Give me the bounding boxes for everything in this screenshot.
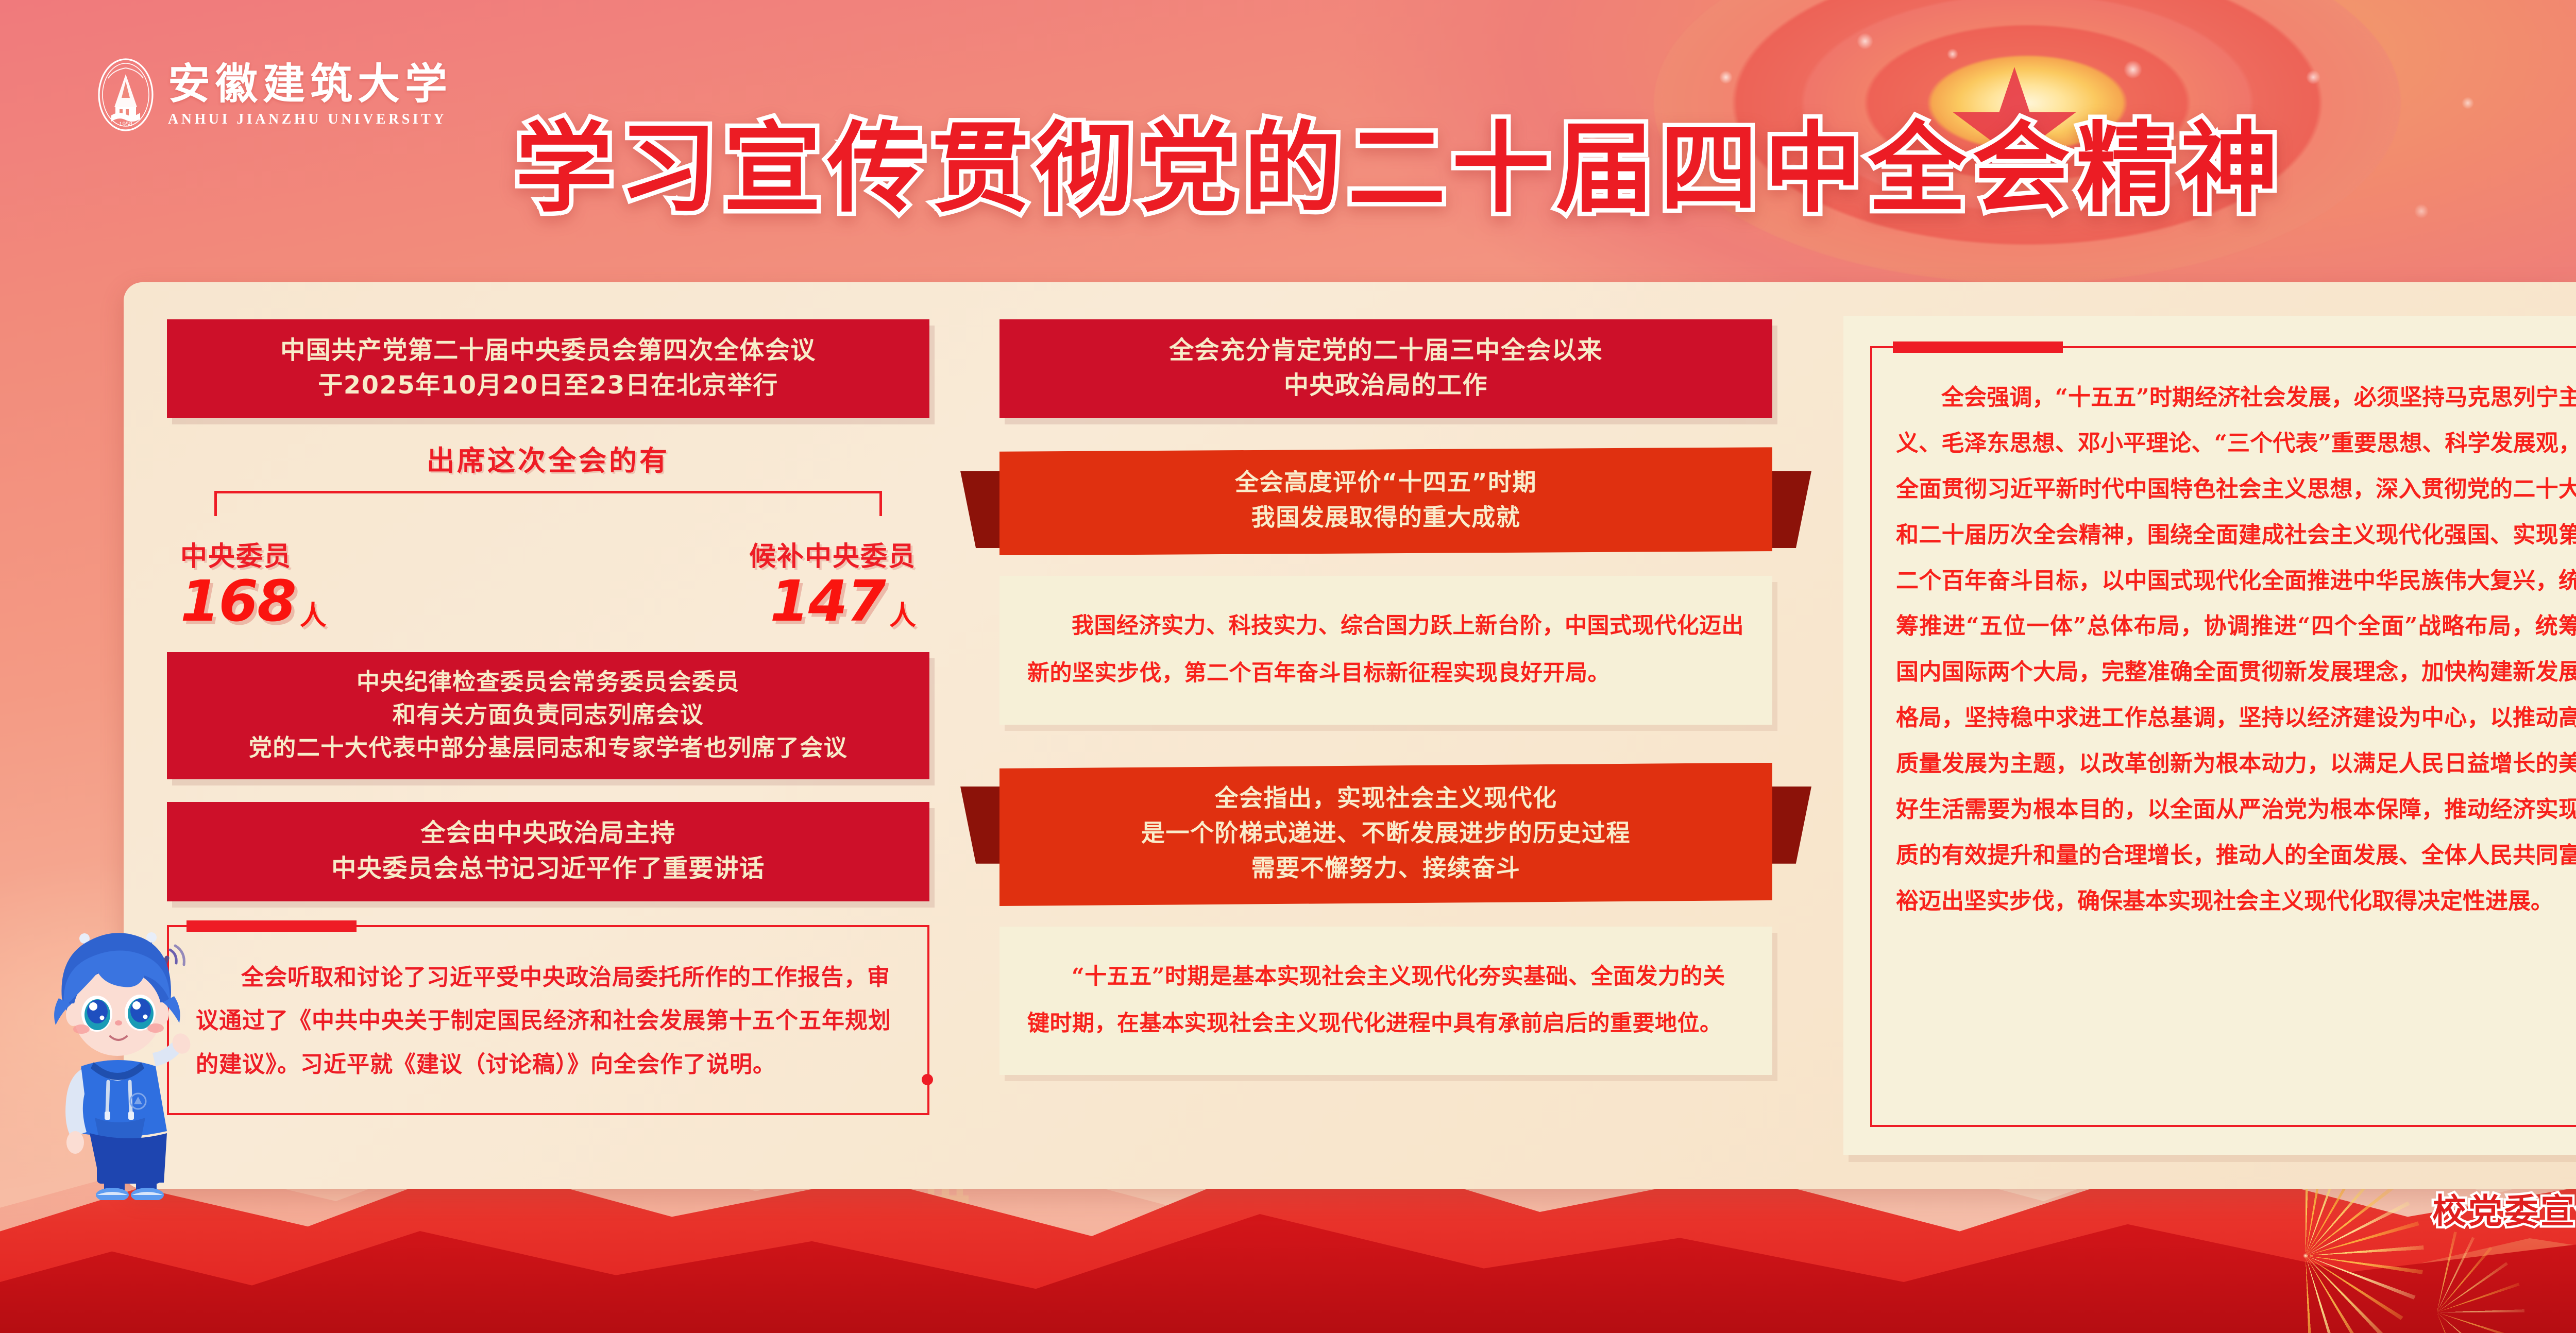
attendees-label: 出席这次全会的有 [167,438,929,478]
achievements-body-text: 我国经济实力、科技实力、综合国力跃上新台阶，中国式现代化迈出新的坚实步伐，第二个… [1027,603,1744,696]
modernization-ribbon-text: 全会指出，实现社会主义现代化 是一个阶梯式递进、不断发展进步的历史过程 需要不懈… [999,763,1772,906]
emphasis-card-frame: 全会强调，“十五五”时期经济社会发展，必须坚持马克思列宁主义、毛泽东思想、邓小平… [1870,346,2576,1127]
left-column: 中国共产党第二十届中央委员会第四次全体会议 于2025年10月20日至23日在北… [124,282,969,1189]
poster-root: 1958 安徽建筑大学 ANHUI JIANZHU UNIVERSITY 学习宣… [0,0,2576,1333]
emphasis-text: 全会强调，“十五五”时期经济社会发展，必须坚持马克思列宁主义、毛泽东思想、邓小平… [1896,375,2576,925]
card-arrow-decoration [1870,1125,2576,1127]
attendance-stats: 中央委员 168 人 候补中央委员 147 人 [167,535,929,628]
stat-label: 候补中央委员 [749,535,916,573]
university-name-cn: 安徽建筑大学 [168,63,452,105]
report-note-text: 全会听取和讨论了习近平受中央政治局委托所作的工作报告，审议通过了《中共中央关于制… [196,956,903,1086]
note-dot-decoration [922,1074,933,1085]
observers-banner: 中央纪律检查委员会常务委员会委员 和有关方面负责同志列席会议 党的二十大代表中部… [167,652,929,780]
middle-column: 全会充分肯定党的二十届三中全会以来 中央政治局的工作 全会高度评价“十四五”时期… [969,282,1803,1189]
publisher-credit: 校党委宣传部 宣 [2432,1184,2576,1233]
meeting-banner: 中国共产党第二十届中央委员会第四次全体会议 于2025年10月20日至23日在北… [167,319,929,418]
content-panel: 中国共产党第二十届中央委员会第四次全体会议 于2025年10月20日至23日在北… [124,282,2576,1189]
card-tick-decoration [1893,341,2063,353]
achievements-ribbon-text: 全会高度评价“十四五”时期 我国发展取得的重大成就 [999,447,1772,555]
right-column: 全会强调，“十五五”时期经济社会发展，必须坚持马克思列宁主义、毛泽东思想、邓小平… [1803,282,2576,1189]
achievements-ribbon: 全会高度评价“十四五”时期 我国发展取得的重大成就 [999,447,1772,555]
stat-number: 168 [180,574,296,628]
student-mascot-icon [32,912,228,1200]
chair-banner: 全会由中央政治局主持 中央委员会总书记习近平作了重要讲话 [167,802,929,901]
stat-alternate-members: 候补中央委员 147 人 [749,535,916,628]
emphasis-card: 全会强调，“十五五”时期经济社会发展，必须坚持马克思列宁主义、毛泽东思想、邓小平… [1843,316,2576,1155]
modernization-ribbon: 全会指出，实现社会主义现代化 是一个阶梯式递进、不断发展进步的历史过程 需要不懈… [999,763,1772,906]
stat-central-committee: 中央委员 168 人 [180,535,327,628]
modernization-body-card: “十五五”时期是基本实现社会主义现代化夯实基础、全面发力的关键时期，在基本实现社… [999,927,1772,1075]
stat-unit: 人 [889,594,916,633]
stat-label: 中央委员 [180,535,327,573]
page-title: 学习宣传贯彻党的二十届四中全会精神 [0,119,2576,217]
modernization-body-text: “十五五”时期是基本实现社会主义现代化夯实基础、全面发力的关键时期，在基本实现社… [1027,953,1744,1047]
bracket-decoration [214,491,882,517]
achievements-body-card: 我国经济实力、科技实力、综合国力跃上新台阶，中国式现代化迈出新的坚实步伐，第二个… [999,576,1772,724]
report-note-card: 全会听取和讨论了习近平受中央政治局委托所作的工作报告，审议通过了《中共中央关于制… [167,925,929,1115]
stat-number: 147 [770,574,885,628]
affirmation-banner: 全会充分肯定党的二十届三中全会以来 中央政治局的工作 [999,319,1772,418]
stat-unit: 人 [300,594,327,633]
